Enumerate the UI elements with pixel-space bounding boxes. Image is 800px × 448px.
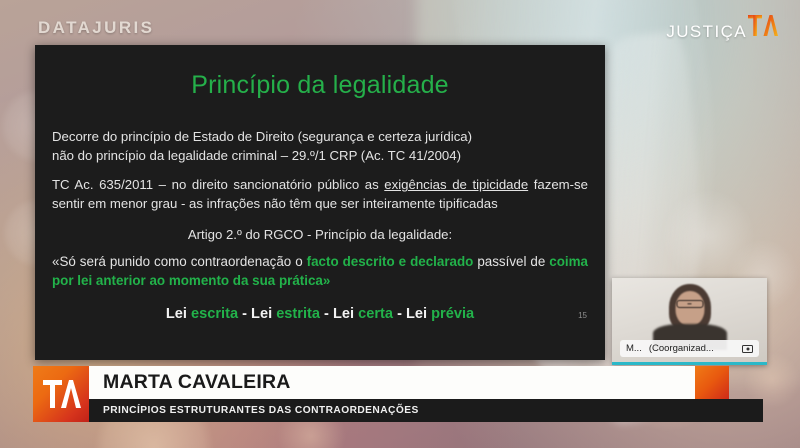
quote-text: passível de [473, 254, 549, 269]
presentation-slide[interactable]: Princípio da legalidade Decorre do princ… [35, 45, 605, 360]
paragraph-tc-acordao: TC Ac. 635/2011 – no direito sancionatór… [52, 176, 588, 213]
legal-quote: «Só será punido como contraordenação o f… [52, 252, 588, 291]
maxim-label: Lei [251, 306, 276, 322]
brand-justica-ta: JUSTIÇA [666, 14, 778, 42]
maxim-keyword: escrita [191, 306, 238, 322]
quote-text: «Só será punido como contraordenação o [52, 254, 307, 269]
participant-webcam-image [612, 278, 767, 348]
maxim-keyword: prévia [431, 306, 474, 322]
slide-title: Princípio da legalidade [35, 71, 605, 100]
glasses-icon [676, 300, 703, 308]
participant-name: M... [626, 343, 642, 354]
maxim-keyword: certa [358, 306, 393, 322]
person-face [675, 291, 704, 326]
lower-third-banner: MARTA CAVALEIRA PRINCÍPIOS ESTRUTURANTES… [0, 366, 763, 422]
maxim-separator: - [393, 306, 406, 322]
maxim-label: Lei [406, 306, 431, 322]
ta-logo-icon [748, 14, 778, 37]
camera-icon[interactable] [742, 345, 753, 353]
paragraph-text: TC Ac. 635/2011 – no direito sancionatór… [52, 177, 384, 192]
legalidade-maxims: Lei escrita - Lei estrita - Lei certa - … [52, 304, 588, 325]
paragraph-estado-direito: Decorre do princípio de Estado de Direit… [52, 128, 588, 165]
maxim-label: Lei [166, 306, 191, 322]
underlined-term: exigências de tipicidade [384, 177, 528, 192]
brand-justica-label: JUSTIÇA [666, 22, 747, 42]
artigo-heading: Artigo 2.º do RGCO - Princípio da legali… [52, 226, 588, 245]
participant-role: (Coorganizad... [649, 343, 735, 354]
paragraph-line: Decorre do princípio de Estado de Direit… [52, 129, 472, 144]
brand-accent-block [695, 366, 729, 399]
maxim-label: Lei [333, 306, 358, 322]
maxim-separator: - [238, 306, 251, 322]
paragraph-line: não do princípio da legalidade criminal … [52, 148, 461, 163]
participant-name-badge: M... (Coorganizad... [620, 340, 759, 357]
presentation-stream: DATAJURIS JUSTIÇA Princípio da legalidad… [0, 0, 800, 448]
quote-highlight: facto descrito e declarado [307, 254, 474, 269]
maxim-separator: - [320, 306, 333, 322]
slide-body: Decorre do princípio de Estado de Direit… [52, 128, 588, 324]
maxim-keyword: estrita [276, 306, 320, 322]
brand-datajuris: DATAJURIS [38, 18, 154, 38]
participant-video-tile[interactable]: M... (Coorganizad... [612, 278, 767, 365]
ta-logo-block-icon [33, 366, 89, 422]
speaker-name: MARTA CAVALEIRA [89, 366, 729, 399]
session-topic: PRINCÍPIOS ESTRUTURANTES DAS CONTRAORDEN… [89, 399, 763, 422]
slide-page-number: 15 [578, 311, 587, 320]
